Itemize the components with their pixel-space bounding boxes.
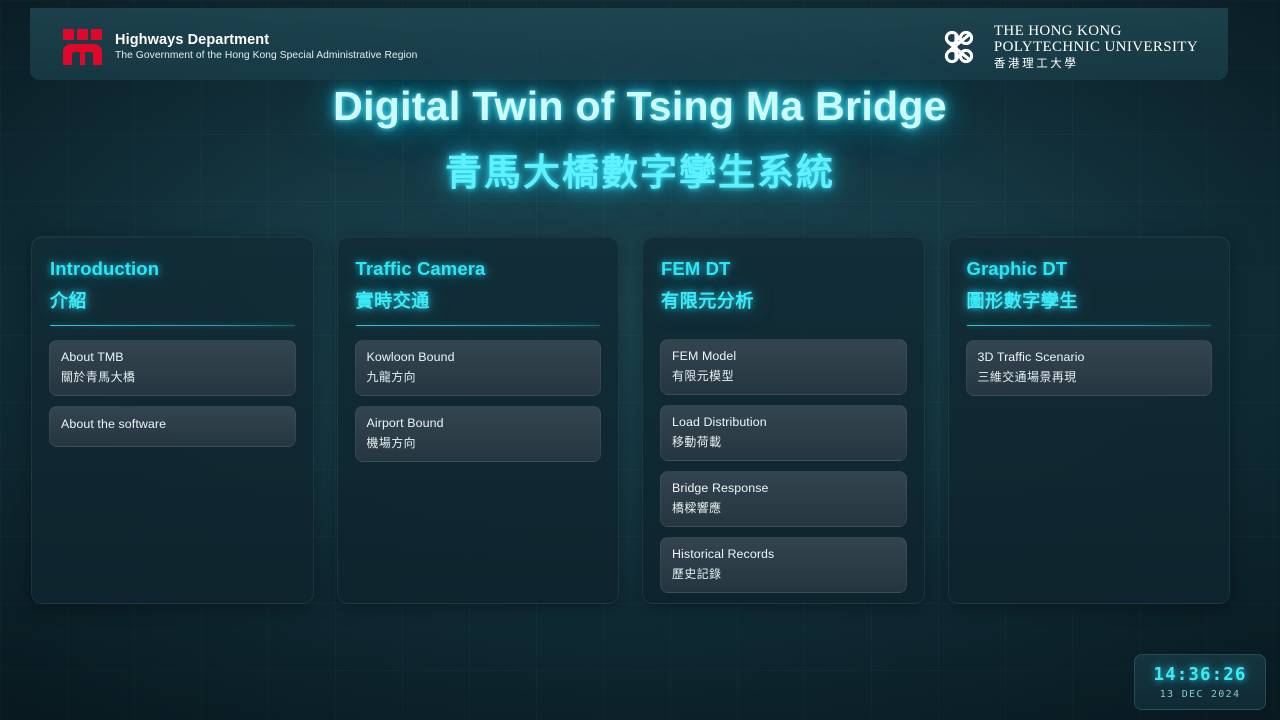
- card-heading: Introduction 介紹: [50, 258, 295, 313]
- menu-item-load-distribution[interactable]: Load Distribution 移動荷載: [660, 405, 907, 461]
- card-title-zh: 實時交通: [356, 287, 601, 313]
- menu-item-label-en: Load Distribution: [672, 415, 895, 429]
- card-traffic-camera: Traffic Camera 實時交通 Kowloon Bound 九龍方向 A…: [337, 236, 620, 604]
- menu-item-label-zh: 移動荷載: [672, 433, 895, 450]
- card-title-en: FEM DT: [661, 258, 906, 280]
- menu-list: FEM Model 有限元模型 Load Distribution 移動荷載 B…: [660, 339, 907, 593]
- polyu-line2: POLYTECHNIC UNIVERSITY: [994, 40, 1198, 56]
- menu-list: 3D Traffic Scenario 三維交通場景再現: [966, 340, 1213, 396]
- card-title-en: Traffic Camera: [356, 258, 601, 280]
- card-heading: Graphic DT 圖形數字孿生: [967, 258, 1212, 313]
- hd-name: Highways Department: [115, 32, 417, 49]
- card-divider: [356, 325, 601, 326]
- card-introduction: Introduction 介紹 About TMB 關於青馬大橋 About t…: [31, 236, 314, 604]
- card-graphic-dt: Graphic DT 圖形數字孿生 3D Traffic Scenario 三維…: [948, 236, 1231, 604]
- polyu-branding: THE HONG KONG POLYTECHNIC UNIVERSITY 香港理…: [937, 24, 1198, 70]
- menu-item-kowloon-bound[interactable]: Kowloon Bound 九龍方向: [355, 340, 602, 396]
- card-title-zh: 有限元分析: [661, 287, 906, 313]
- hd-subtitle: The Government of the Hong Kong Special …: [115, 50, 417, 62]
- polyu-knot-logo-icon: [937, 25, 981, 69]
- card-heading: Traffic Camera 實時交通: [356, 258, 601, 313]
- menu-item-label-en: FEM Model: [672, 349, 895, 363]
- menu-item-label-en: Kowloon Bound: [367, 350, 590, 364]
- menu-item-historical-records[interactable]: Historical Records 歷史記錄: [660, 537, 907, 593]
- menu-item-3d-traffic-scenario[interactable]: 3D Traffic Scenario 三維交通場景再現: [966, 340, 1213, 396]
- card-fem-dt: FEM DT 有限元分析 FEM Model 有限元模型 Load Distri…: [642, 236, 925, 604]
- clock-date: 13 DEC 2024: [1160, 689, 1241, 700]
- header-bar: Highways Department The Government of th…: [30, 8, 1228, 80]
- menu-item-label-zh: 歷史記錄: [672, 565, 895, 582]
- card-divider: [50, 325, 295, 326]
- menu-item-label-en: About the software: [61, 417, 284, 431]
- highways-department-arch-logo-icon: [62, 27, 104, 67]
- clock-time: 14:36:26: [1153, 665, 1246, 685]
- polyu-chinese: 香港理工大學: [994, 58, 1198, 70]
- highways-department-text: Highways Department The Government of th…: [115, 32, 417, 62]
- menu-item-bridge-response[interactable]: Bridge Response 橋樑響應: [660, 471, 907, 527]
- menu-item-about-tmb[interactable]: About TMB 關於青馬大橋: [49, 340, 296, 396]
- menu-item-airport-bound[interactable]: Airport Bound 機場方向: [355, 406, 602, 462]
- menu-item-about-the-software[interactable]: About the software: [49, 406, 296, 447]
- menu-item-label-en: 3D Traffic Scenario: [978, 350, 1201, 364]
- menu-item-label-en: Historical Records: [672, 547, 895, 561]
- menu-item-label-zh: 關於青馬大橋: [61, 368, 284, 385]
- polyu-line1: THE HONG KONG: [994, 24, 1198, 40]
- menu-item-label-zh: 橋樑響應: [672, 499, 895, 516]
- menu-list: Kowloon Bound 九龍方向 Airport Bound 機場方向: [355, 340, 602, 462]
- menu-item-label-zh: 有限元模型: [672, 367, 895, 384]
- page-title-block: Digital Twin of Tsing Ma Bridge 青馬大橋數字孿生…: [0, 83, 1280, 196]
- highways-department-branding: Highways Department The Government of th…: [62, 27, 417, 67]
- card-title-en: Graphic DT: [967, 258, 1212, 280]
- clock-widget: 14:36:26 13 DEC 2024: [1134, 654, 1266, 710]
- menu-item-label-zh: 九龍方向: [367, 368, 590, 385]
- card-divider: [967, 325, 1212, 326]
- menu-item-label-zh: 三維交通場景再現: [978, 368, 1201, 385]
- card-title-zh: 介紹: [50, 287, 295, 313]
- menu-list: About TMB 關於青馬大橋 About the software: [49, 340, 296, 447]
- menu-item-label-en: Airport Bound: [367, 416, 590, 430]
- app-root: Highways Department The Government of th…: [0, 0, 1280, 720]
- menu-item-fem-model[interactable]: FEM Model 有限元模型: [660, 339, 907, 395]
- menu-item-label-en: About TMB: [61, 350, 284, 364]
- polyu-text: THE HONG KONG POLYTECHNIC UNIVERSITY 香港理…: [994, 24, 1198, 70]
- menu-item-label-zh: 機場方向: [367, 434, 590, 451]
- menu-item-label-en: Bridge Response: [672, 481, 895, 495]
- card-heading: FEM DT 有限元分析: [661, 258, 906, 313]
- card-title-zh: 圖形數字孿生: [967, 287, 1212, 313]
- menu-cards-row: Introduction 介紹 About TMB 關於青馬大橋 About t…: [31, 236, 1230, 604]
- page-subtitle: 青馬大橋數字孿生系統: [0, 142, 1280, 196]
- page-title: Digital Twin of Tsing Ma Bridge: [0, 83, 1280, 130]
- card-title-en: Introduction: [50, 258, 295, 280]
